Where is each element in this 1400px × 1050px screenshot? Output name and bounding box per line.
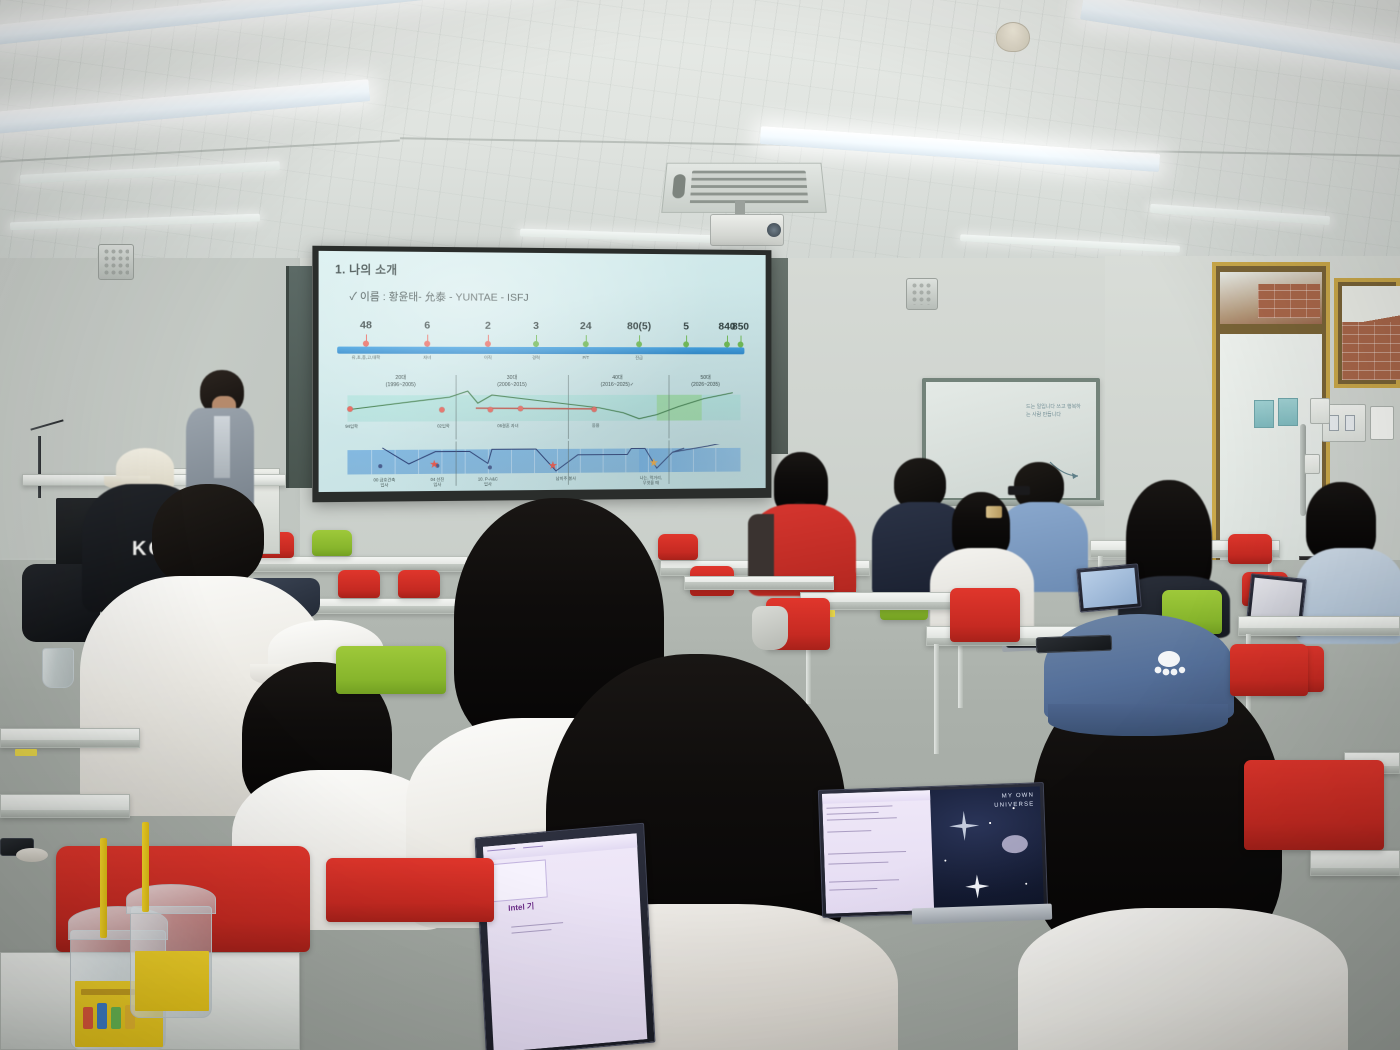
straw: [100, 838, 107, 938]
torso: [1018, 908, 1348, 1050]
slide-subtitle: 이름 : 황윤태- 允泰 - YUNTAE - ISFJ: [360, 291, 529, 304]
student: [748, 452, 856, 592]
career-divider: [456, 441, 457, 485]
decade-marker: [592, 407, 597, 412]
desk-leg: [934, 644, 939, 754]
outside-brick-wall: [1258, 284, 1320, 318]
straw: [142, 822, 149, 912]
timeline-chart: 48유,초,중,고,대학6자녀2이직3경력24P/T80(5)진급5840850: [337, 326, 748, 363]
timeline-value: 2: [485, 320, 491, 332]
career-divider: [669, 440, 670, 484]
hair-clip: [986, 506, 1002, 518]
paw-print-icon: [1152, 650, 1186, 676]
timeline-value: 3: [533, 320, 539, 332]
timeline-value: 48: [360, 319, 372, 331]
decade-chart: 20대(1996~2005)30대(2006~2015)40대(2016~202…: [337, 375, 748, 440]
bag: [752, 606, 788, 650]
laptop-screen-intel: Intel 기: [479, 827, 652, 1050]
doc-sidebar: [486, 859, 548, 902]
decade-sublabel: 응용: [592, 423, 600, 429]
slide-subtitle-row: ✓ 이름 : 황윤태- 允泰 - YUNTAE - ISFJ: [350, 289, 755, 306]
decade-marker: [488, 407, 493, 412]
decade-label: 40대(2016~2025)✓: [601, 375, 634, 389]
small-dish: [16, 848, 48, 862]
drink-cup: [130, 906, 212, 1018]
check-icon: ✓: [350, 291, 357, 303]
timeline-sublabel: 자녀: [423, 355, 431, 361]
wallpaper-text: MY OWN UNIVERSE: [994, 791, 1035, 810]
chair[interactable]: [326, 858, 494, 922]
decade-sublabel: 06결혼 자녀: [497, 423, 518, 429]
laptop-intel[interactable]: Intel 기: [475, 823, 656, 1050]
chair[interactable]: [1244, 760, 1384, 850]
career-marker: [488, 465, 492, 469]
timeline-value: 6: [424, 319, 430, 331]
career-star-icon: ★: [548, 461, 558, 472]
door-sign: [1254, 400, 1274, 428]
timeline-point: [363, 341, 369, 347]
laptop-screen-universe: MY OWN UNIVERSE: [822, 786, 1044, 914]
timeline-point: [683, 341, 689, 347]
wall-outlet[interactable]: [1304, 454, 1320, 474]
timeline-point: [533, 341, 539, 347]
closed-laptop[interactable]: [1036, 635, 1113, 654]
laptop-screen: [1081, 568, 1138, 609]
outside-brick-wall: [1342, 322, 1400, 380]
panel-button[interactable]: [1329, 415, 1339, 431]
cap-brim: [1048, 704, 1228, 736]
decade-sublabel: 94입학: [345, 424, 358, 430]
document-page: [822, 790, 934, 914]
career-label: 00 금호건축입사: [374, 477, 396, 488]
chair[interactable]: [336, 646, 446, 694]
timeline-point: [485, 341, 491, 347]
compass-star-icon: [949, 810, 980, 841]
career-star-icon: ★: [429, 460, 439, 471]
career-marker: [378, 464, 382, 468]
career-label: 04 선진입사: [430, 477, 444, 488]
document-page: Intel 기: [483, 833, 647, 1050]
smoke-detector-icon: [996, 22, 1030, 52]
projection-screen: 1. 나의 소개 ✓ 이름 : 황윤태- 允泰 - YUNTAE - ISFJ …: [312, 246, 771, 503]
career-line-series: [337, 444, 748, 481]
speaker-icon: [98, 244, 134, 280]
decade-marker: [439, 407, 444, 412]
side-board-left: [286, 266, 312, 488]
slide-title: 1. 나의 소개: [335, 261, 754, 280]
desk: [0, 728, 140, 748]
presenter-shirt: [214, 416, 230, 478]
cup-label: [135, 951, 209, 1011]
decade-label: 50대(2026~2035): [691, 375, 720, 389]
timeline-sublabel: 경력: [532, 355, 540, 361]
desk: [684, 576, 834, 590]
timeline-point: [636, 341, 642, 347]
decade-marker: [347, 406, 352, 411]
desk: [0, 794, 130, 818]
chair[interactable]: [1230, 644, 1308, 696]
laptop[interactable]: [1076, 563, 1142, 612]
projection-surface: 1. 나의 소개 ✓ 이름 : 황윤태- 允泰 - YUNTAE - ISFJ …: [319, 251, 766, 492]
timeline-value: 24: [580, 320, 592, 332]
doc-title: Intel 기: [508, 901, 535, 914]
door-sign: [1278, 398, 1298, 426]
microphone-stand: [38, 436, 41, 498]
career-label: 10. P-A&C입사: [478, 476, 498, 487]
whiteboard-handwriting: 드는 일입니다 쓰고 행복하는 사람 만듭니다: [1026, 404, 1082, 456]
career-chart: ★ ★ ★ 00 금호건축입사04 선진입사10. P-A&C입사남미주 봉사나…: [337, 444, 748, 492]
chair[interactable]: [1228, 534, 1272, 564]
timeline-point: [583, 341, 589, 347]
cup: [42, 648, 74, 688]
career-star-icon: ★: [649, 458, 659, 469]
cup-dome-lid: [126, 884, 216, 914]
classroom-photo-scene: 드는 일입니다 쓰고 행복하는 사람 만듭니다 1. 나의 소개 ✓ 이름 : …: [0, 0, 1400, 1050]
career-label: 나는, 먹거리,무엇을 때: [640, 475, 662, 486]
decade-label: 20대(1996~2005): [386, 375, 416, 389]
ceiling-projector: [710, 214, 784, 246]
desk: [1310, 850, 1400, 876]
timeline-sublabel: P/T: [583, 355, 589, 360]
timeline-value: 80(5): [627, 320, 651, 332]
timeline-bar: [337, 347, 744, 355]
wall-notice: [1370, 406, 1394, 440]
timeline-value: 850: [732, 321, 749, 333]
speaker-icon: [906, 278, 938, 310]
timeline-value: 5: [683, 321, 689, 333]
panel-button[interactable]: [1345, 415, 1355, 431]
slide-content: 1. 나의 소개 ✓ 이름 : 황윤태- 允泰 - YUNTAE - ISFJ …: [319, 251, 766, 492]
doc-toolbar: [483, 833, 637, 860]
chair[interactable]: [950, 588, 1020, 642]
laptop-universe[interactable]: MY OWN UNIVERSE: [818, 782, 1048, 918]
timeline-sublabel: 진급: [635, 355, 643, 361]
decade-label: 30대(2006~2015): [497, 375, 527, 389]
hair: [152, 484, 264, 588]
sleeve: [748, 514, 774, 580]
timeline-point: [724, 341, 730, 347]
timeline-point: [738, 341, 744, 347]
chair[interactable]: [338, 570, 380, 598]
timeline-sublabel: 유,초,중,고,대학: [352, 355, 380, 361]
doc-toolbar: [822, 790, 930, 804]
wall-switch-panel[interactable]: [1310, 398, 1330, 424]
decade-marker: [518, 406, 523, 411]
decade-sublabel: 02입학: [437, 423, 450, 429]
career-label: 남미주 봉사: [556, 476, 576, 482]
sparkle-icon: [965, 874, 990, 899]
timeline-point: [424, 341, 430, 347]
timeline-sublabel: 이직: [484, 355, 492, 361]
